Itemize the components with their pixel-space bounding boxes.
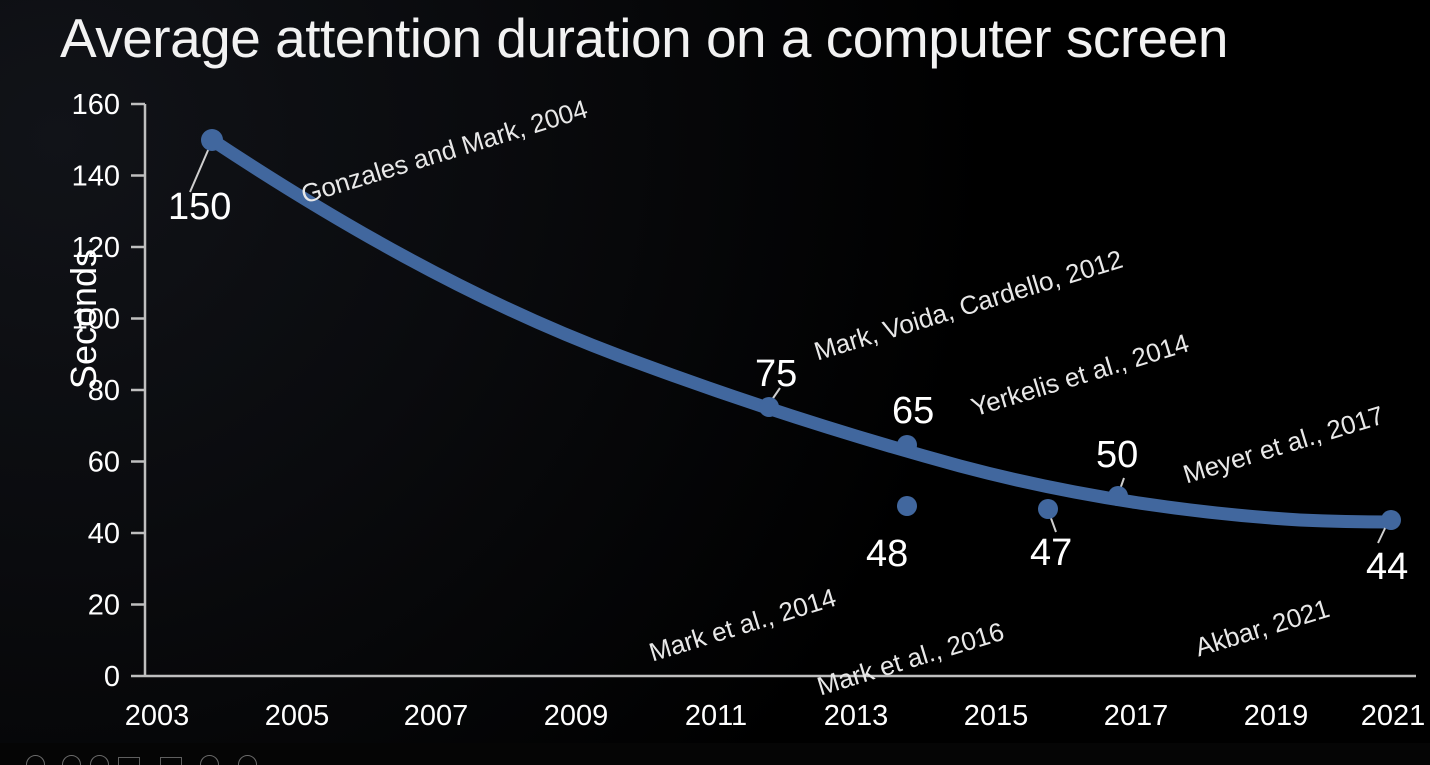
y-tick-label-60: 60 [88,447,120,479]
y-tick-label-40: 40 [88,518,120,550]
data-point-2016-47 [1038,499,1058,519]
y-tick-label-100: 100 [72,304,120,336]
data-point-2017-50 [1108,486,1128,506]
taskbar-strip [0,743,1430,765]
slide-canvas: Average attention duration on a computer… [0,0,1430,765]
value-label-75: 75 [755,353,797,396]
x-tick-label-2019: 2019 [1244,700,1309,732]
x-tick-label-2005: 2005 [265,700,330,732]
value-label-150: 150 [168,186,231,229]
x-tick-label-2003: 2003 [125,700,190,732]
value-label-44: 44 [1366,546,1408,589]
data-point-2014-48 [897,496,917,516]
x-tick-label-2013: 2013 [824,700,889,732]
dock-icon-4[interactable] [118,757,140,765]
data-point-2004 [201,129,223,151]
value-label-47: 47 [1030,532,1072,575]
y-axis-ticks [131,104,145,676]
x-tick-label-2017: 2017 [1104,700,1169,732]
x-tick-label-2007: 2007 [404,700,469,732]
y-tick-label-80: 80 [88,375,120,407]
x-tick-label-2021: 2021 [1361,700,1426,732]
data-point-2012-75 [759,397,779,417]
value-label-50: 50 [1096,434,1138,477]
dock-icon-2[interactable] [62,755,81,765]
x-tick-label-2015: 2015 [964,700,1029,732]
y-tick-label-0: 0 [104,661,120,693]
dock-icon-7[interactable] [238,755,257,765]
x-tick-label-2009: 2009 [544,700,609,732]
dock-icon-6[interactable] [200,755,219,765]
value-label-65: 65 [892,390,934,433]
dock-icon-3[interactable] [90,755,109,765]
y-tick-label-120: 120 [72,232,120,264]
data-point-2014-65 [897,435,917,455]
value-label-48: 48 [866,533,908,576]
x-tick-label-2011: 2011 [685,700,747,732]
y-tick-label-140: 140 [72,161,120,193]
y-tick-label-160: 160 [72,89,120,121]
y-tick-label-20: 20 [88,590,120,622]
data-point-2021-44 [1381,510,1401,530]
dock-icon-1[interactable] [26,755,45,765]
dock-icon-5[interactable] [160,757,182,765]
